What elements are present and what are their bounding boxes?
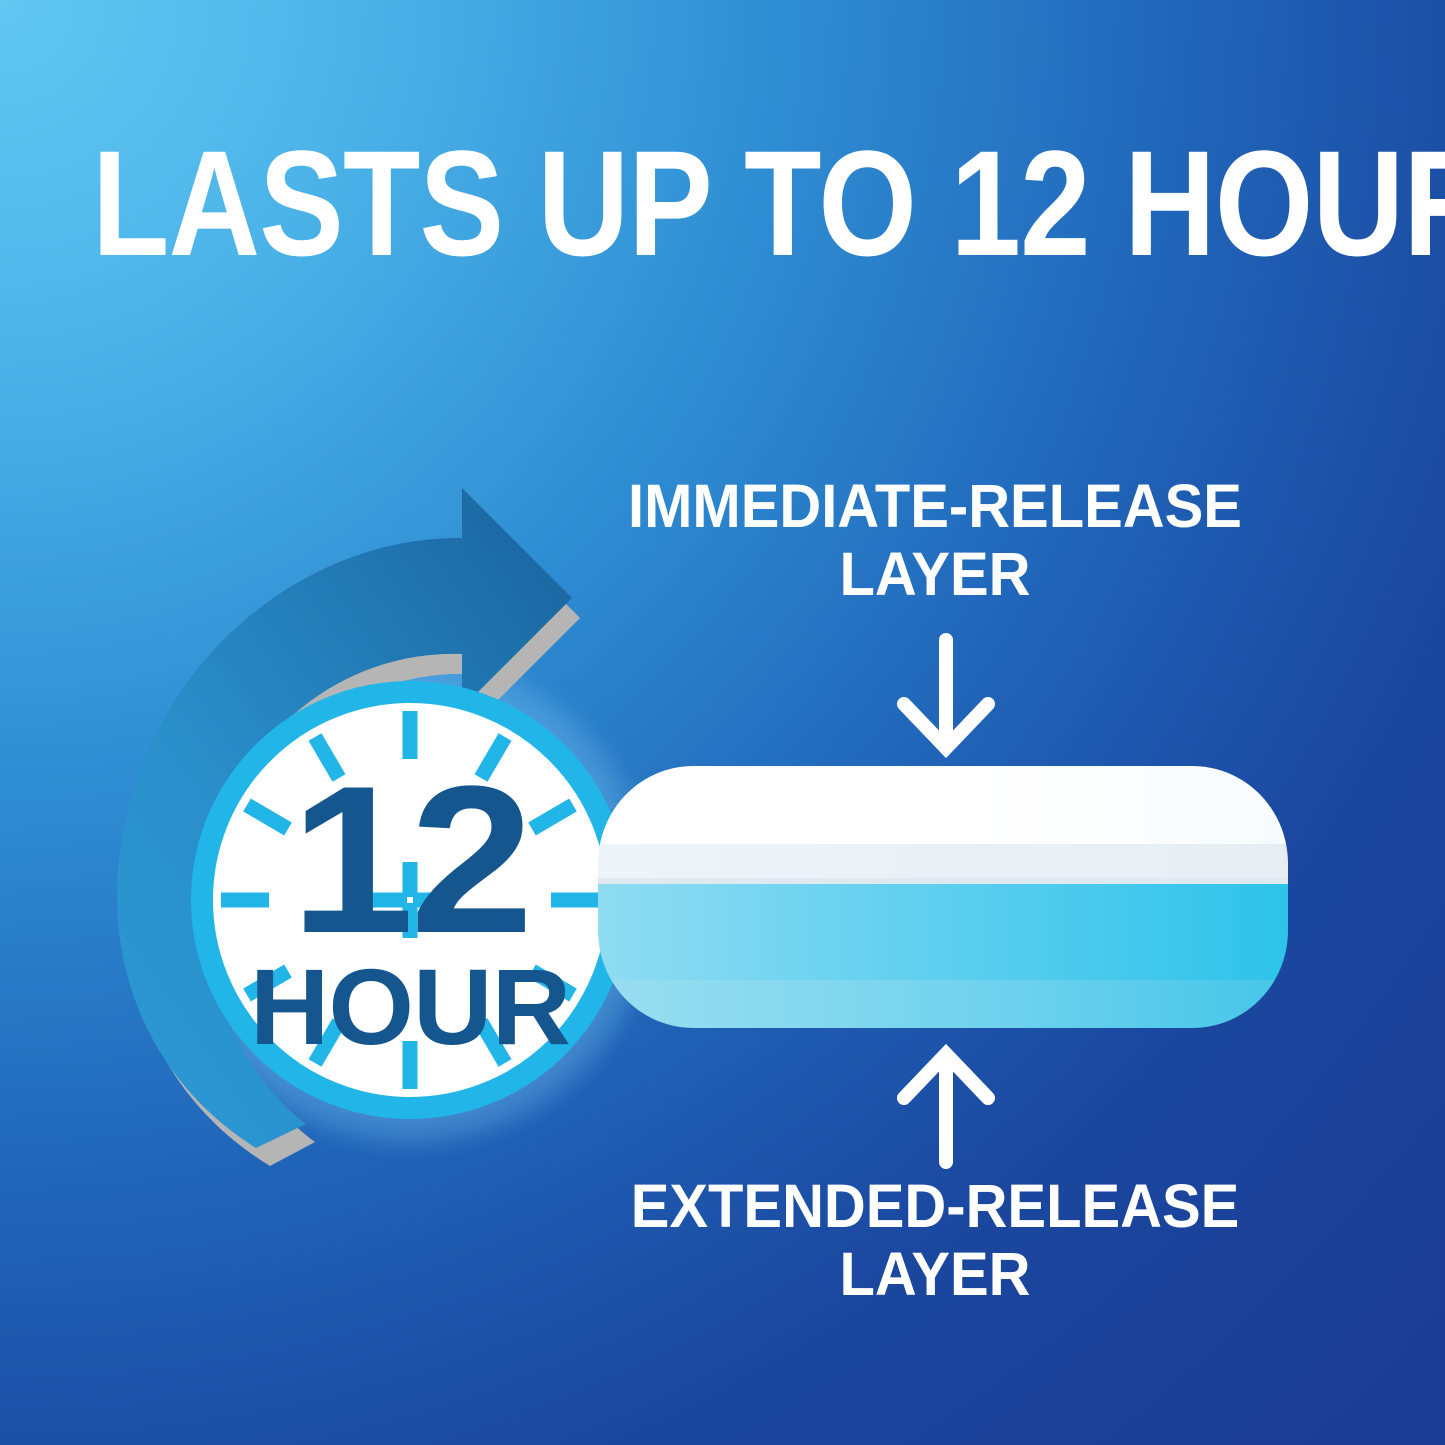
page-title: LASTS UP TO 12 HOURS — [92, 128, 1165, 278]
arrow-up-icon — [876, 1040, 1016, 1170]
extended-release-layer — [598, 884, 1288, 980]
clock-label-group: 12 HOUR — [175, 665, 645, 1135]
callout-extended-release-label: EXTENDED-RELEASE LAYER — [593, 1172, 1277, 1308]
clock-hours-number: 12 — [161, 760, 659, 960]
bilayer-tablet-graphic — [598, 766, 1288, 1028]
infographic-canvas: LASTS UP TO 12 HOURS — [0, 0, 1445, 1445]
immediate-release-layer — [598, 766, 1288, 844]
arrow-down-icon — [876, 632, 1016, 762]
callout-immediate-release-label: IMMEDIATE-RELEASE LAYER — [593, 472, 1277, 608]
clock-hours-unit: HOUR — [170, 955, 649, 1059]
